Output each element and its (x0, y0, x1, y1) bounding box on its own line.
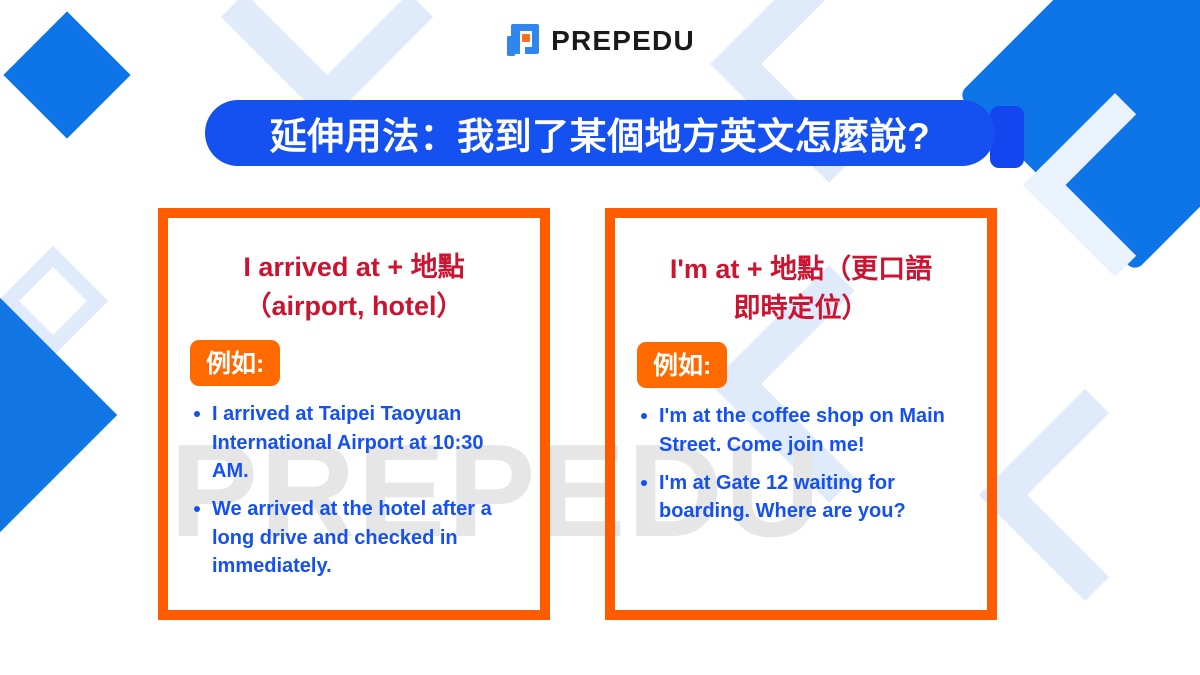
list-item: I arrived at Taipei Taoyuan Internationa… (190, 400, 518, 485)
title-banner: 延伸用法：我到了某個地方英文怎麼說? (205, 100, 995, 166)
card-im-at: I'm at + 地點（更口語 即時定位） 例如: I'm at the cof… (605, 208, 997, 620)
card-arrived-at: I arrived at + 地點 （airport, hotel） 例如: I… (158, 208, 550, 620)
card-heading: I arrived at + 地點 （airport, hotel） (190, 248, 518, 326)
page-title: 延伸用法：我到了某個地方英文怎麼說? (270, 106, 931, 160)
example-list: I'm at the coffee shop on Main Street. C… (637, 402, 965, 526)
brand-logo-text: PREPEDU (551, 25, 695, 57)
list-item: I'm at the coffee shop on Main Street. C… (637, 402, 965, 459)
example-list: I arrived at Taipei Taoyuan Internationa… (190, 400, 518, 580)
list-item: I'm at Gate 12 waiting for boarding. Whe… (637, 469, 965, 526)
card-heading: I'm at + 地點（更口語 即時定位） (637, 250, 965, 328)
list-item: We arrived at the hotel after a long dri… (190, 495, 518, 580)
card-heading-line1: I'm at + 地點（更口語 (637, 250, 965, 289)
example-badge: 例如: (190, 340, 280, 386)
card-heading-line1: I arrived at + 地點 (190, 248, 518, 287)
prepedu-square-logo-icon (505, 22, 541, 60)
brand-logo: PREPEDU (0, 22, 1200, 60)
infographic-canvas: PREPEDU PREPEDU 延伸用法：我到了某個地方英文怎麼說? I arr… (0, 0, 1200, 675)
card-heading-line2: （airport, hotel） (190, 287, 518, 326)
card-heading-line2: 即時定位） (637, 289, 965, 328)
example-badge: 例如: (637, 342, 727, 388)
